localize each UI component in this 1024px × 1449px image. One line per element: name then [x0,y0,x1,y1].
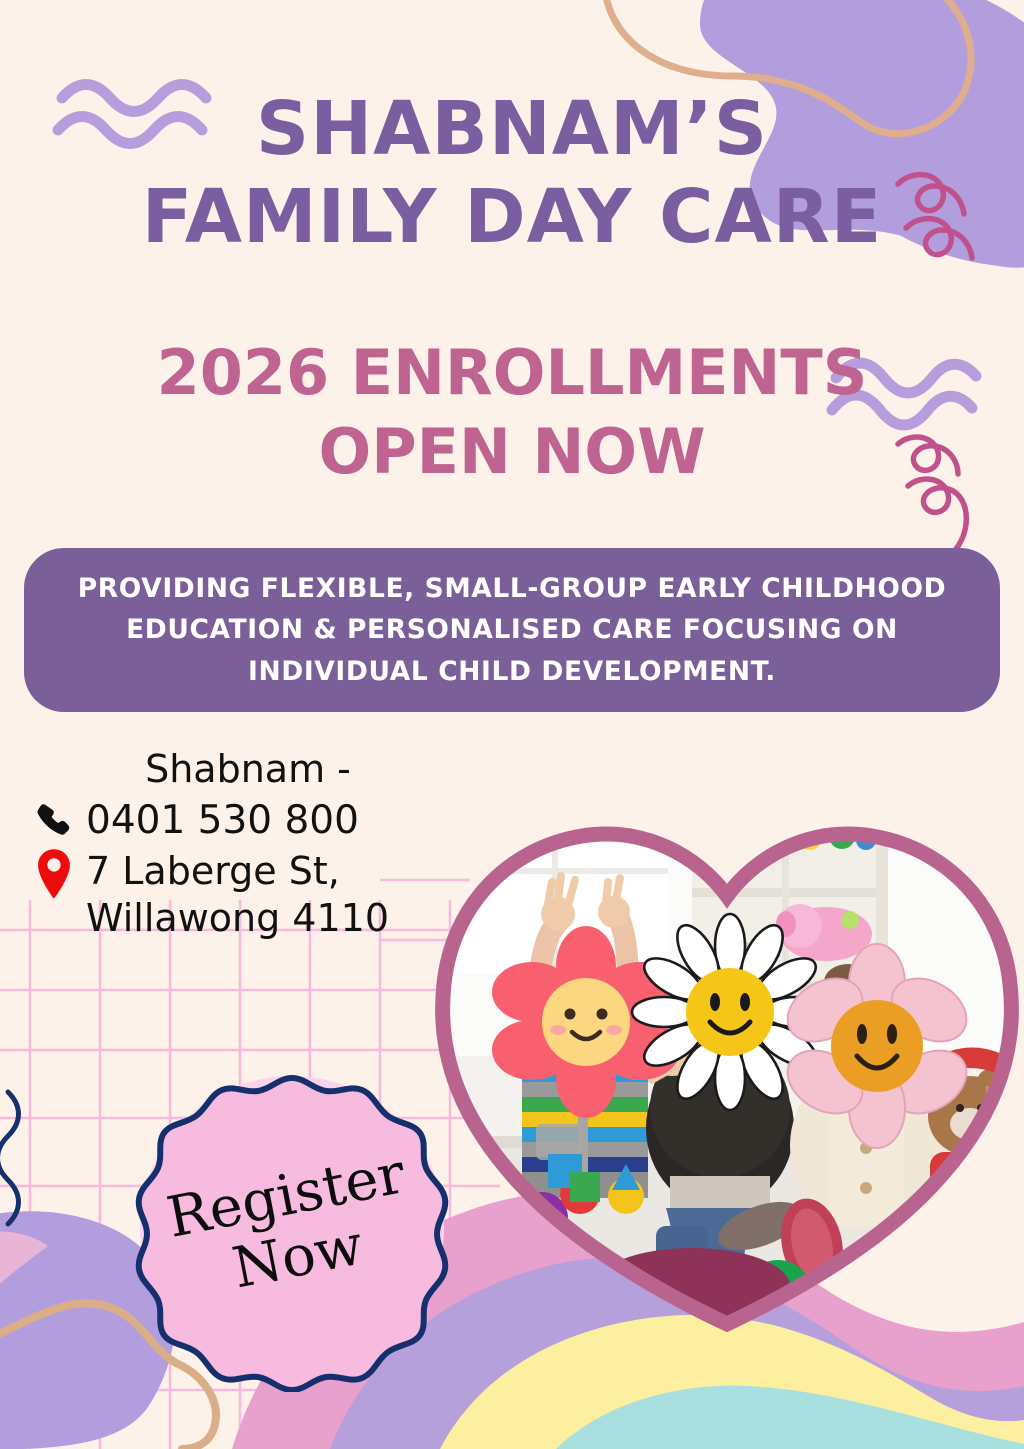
title-line-2: FAMILY DAY CARE [0,180,1024,254]
banner-line-1: PROVIDING FLEXIBLE, SMALL-GROUP EARLY CH… [78,568,946,609]
subtitle-line-1: 2026 ENROLLMENTS [0,340,1024,405]
description-banner: PROVIDING FLEXIBLE, SMALL-GROUP EARLY CH… [24,548,1000,712]
contact-name: Shabnam - [34,748,434,792]
contact-address: 7 Laberge St, Willawong 4110 [86,848,389,941]
title-line-1: SHABNAM’S [0,92,1024,166]
photo-heart-frame: L [430,756,1024,1342]
poster-subtitle: 2026 ENROLLMENTS OPEN NOW [0,340,1024,484]
banner-line-2: EDUCATION & PERSONALISED CARE FOCUSING O… [126,609,898,650]
banner-line-3: INDIVIDUAL CHILD DEVELOPMENT. [248,651,776,692]
register-now-badge[interactable]: Register Now [132,1062,452,1392]
contact-address-line-2: Willawong 4110 [86,896,389,940]
poster-canvas: SHABNAM’S FAMILY DAY CARE 2026 ENROLLMEN… [0,0,1024,1449]
contact-phone-row[interactable]: 0401 530 800 [34,798,434,845]
contact-address-line-1: 7 Laberge St, [86,849,340,893]
contact-phone-number: 0401 530 800 [86,798,359,845]
location-pin-icon [34,848,74,900]
svg-text:L: L [986,1182,996,1203]
contact-block: Shabnam - 0401 530 800 7 Laberge St, Wil… [34,748,434,941]
badge-scallop-body [139,1078,446,1390]
subtitle-line-2: OPEN NOW [0,419,1024,484]
contact-address-row[interactable]: 7 Laberge St, Willawong 4110 [34,848,434,941]
phone-icon [34,800,74,842]
poster-title: SHABNAM’S FAMILY DAY CARE [0,92,1024,254]
